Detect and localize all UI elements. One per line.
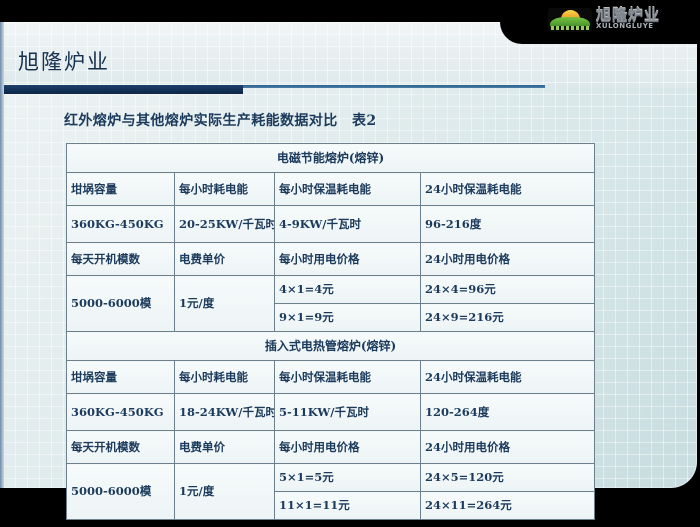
- table-row: 5000-6000模 1元/度 4×1=4元 24×4=96元: [67, 276, 595, 304]
- document-heading: 红外熔炉与其他熔炉实际生产耗能数据对比 表2: [64, 110, 377, 130]
- s1-colhead-2: 每小时保温耗电能: [275, 173, 421, 206]
- s2-summary-r0c0: 5×1=5元: [275, 464, 421, 492]
- title-rule-highlight: [4, 84, 545, 85]
- s2-summary-r1c0: 11×1=11元: [275, 492, 421, 520]
- table-row: 360KG-450KG 18-24KW/千瓦时 5-11KW/千瓦时 120-2…: [67, 394, 595, 431]
- s2-colhead-2: 每小时保温耗电能: [275, 361, 421, 394]
- title-rule-thick: [4, 85, 243, 94]
- s2-subhead-2: 每小时用电价格: [275, 431, 421, 464]
- energy-comparison-table: 电磁节能熔炉(熔锌) 坩埚容量 每小时耗电能 每小时保温耗电能 24小时保温耗电…: [66, 143, 595, 520]
- s2-subhead-3: 24小时用电价格: [421, 431, 595, 464]
- table-row: 5000-6000模 1元/度 5×1=5元 24×5=120元: [67, 464, 595, 492]
- s1-colhead-1: 每小时耗电能: [175, 173, 275, 206]
- s1-subhead-3: 24小时用电价格: [421, 243, 595, 276]
- s1-colhead-0: 坩埚容量: [67, 173, 175, 206]
- s2-summary-r0c1: 24×5=120元: [421, 464, 595, 492]
- s1-colhead-3: 24小时保温耗电能: [421, 173, 595, 206]
- s1-summary-left-0: 5000-6000模: [67, 276, 175, 332]
- s1-summary-r0c1: 24×4=96元: [421, 276, 595, 304]
- s2-data-2: 5-11KW/千瓦时: [275, 394, 421, 431]
- table-body: 电磁节能熔炉(熔锌) 坩埚容量 每小时耗电能 每小时保温耗电能 24小时保温耗电…: [67, 144, 595, 520]
- table-row: 360KG-450KG 20-25KW/千瓦时 4-9KW/千瓦时 96-216…: [67, 206, 595, 243]
- s1-summary-left-1: 1元/度: [175, 276, 275, 332]
- title-rule-thin: [243, 85, 545, 88]
- s1-data-2: 4-9KW/千瓦时: [275, 206, 421, 243]
- page-title: 旭隆炉业: [18, 52, 110, 73]
- s1-summary-r0c0: 4×1=4元: [275, 276, 421, 304]
- s1-summary-r1c1: 24×9=216元: [421, 304, 595, 332]
- s1-subhead-1: 电费单价: [175, 243, 275, 276]
- s2-colhead-0: 坩埚容量: [67, 361, 175, 394]
- section-heading-2: 插入式电热管熔炉(熔锌): [67, 332, 595, 361]
- table-row: 每天开机模数 电费单价 每小时用电价格 24小时用电价格: [67, 243, 595, 276]
- table-row: 坩埚容量 每小时耗电能 每小时保温耗电能 24小时保温耗电能: [67, 361, 595, 394]
- s2-colhead-1: 每小时耗电能: [175, 361, 275, 394]
- logo-base-stripe: [551, 26, 589, 30]
- s1-subhead-2: 每小时用电价格: [275, 243, 421, 276]
- s2-subhead-0: 每天开机模数: [67, 431, 175, 464]
- logo-wordmark: 旭隆炉业 XULONGLUYE: [596, 7, 694, 33]
- s2-data-0: 360KG-450KG: [67, 394, 175, 431]
- s2-colhead-3: 24小时保温耗电能: [421, 361, 595, 394]
- s1-data-0: 360KG-450KG: [67, 206, 175, 243]
- company-logo: 旭隆炉业 XULONGLUYE: [548, 7, 694, 33]
- logo-pinyin-text: XULONGLUYE: [596, 22, 654, 30]
- comparison-table-wrapper: 电磁节能熔炉(熔锌) 坩埚容量 每小时耗电能 每小时保温耗电能 24小时保温耗电…: [66, 143, 594, 520]
- table-row: 电磁节能熔炉(熔锌): [67, 144, 595, 173]
- s2-summary-r1c1: 24×11=264元: [421, 492, 595, 520]
- s1-data-1: 20-25KW/千瓦时: [175, 206, 275, 243]
- sun-over-field-logo-icon: [548, 8, 592, 32]
- section-heading-1: 电磁节能熔炉(熔锌): [67, 144, 595, 173]
- slide-canvas: 旭隆炉业 XULONGLUYE 旭隆炉业 红外熔炉与其他熔炉实际生产耗能数据对比…: [0, 0, 700, 527]
- s2-data-1: 18-24KW/千瓦时: [175, 394, 275, 431]
- s2-summary-left-0: 5000-6000模: [67, 464, 175, 520]
- s2-data-3: 120-264度: [421, 394, 595, 431]
- s2-subhead-1: 电费单价: [175, 431, 275, 464]
- s1-subhead-0: 每天开机模数: [67, 243, 175, 276]
- table-row: 每天开机模数 电费单价 每小时用电价格 24小时用电价格: [67, 431, 595, 464]
- s1-summary-r1c0: 9×1=9元: [275, 304, 421, 332]
- table-row: 坩埚容量 每小时耗电能 每小时保温耗电能 24小时保温耗电能: [67, 173, 595, 206]
- table-row: 插入式电热管熔炉(熔锌): [67, 332, 595, 361]
- s2-summary-left-1: 1元/度: [175, 464, 275, 520]
- s1-data-3: 96-216度: [421, 206, 595, 243]
